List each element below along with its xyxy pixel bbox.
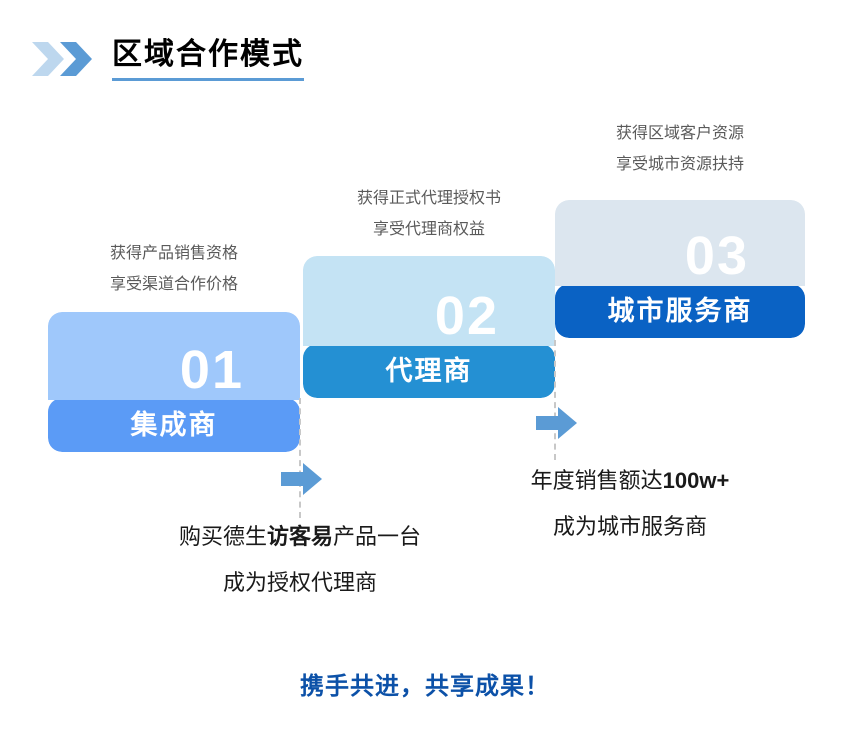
page-title: 区域合作模式 [112,36,304,74]
condition-line-1: 年度销售额达100w+ [410,458,850,504]
tagline: 携手共进，共享成果！ [0,672,850,702]
step-card-body: 03 [555,200,805,286]
chevron-pair [32,40,94,78]
condition-prefix: 年度销售额达 [531,468,663,493]
condition-line-2: 成为城市服务商 [410,504,850,550]
step-caption-line: 获得区域客户资源 [555,118,805,149]
step-card-02[interactable]: 02 代理商 [303,256,555,398]
step-number: 03 [685,228,749,284]
arrow-right-icon [281,462,323,496]
condition-highlight: 访客易 [267,524,333,549]
step-card-footer: 集成商 [48,398,300,452]
step-caption-line: 享受渠道合作价格 [48,269,300,300]
section-header: 区域合作模式 [32,36,304,81]
step-caption-line: 享受代理商权益 [303,214,555,245]
condition-block-2: 年度销售额达100w+ 成为城市服务商 [410,458,850,550]
step-card-body: 02 [303,256,555,346]
step-card-01[interactable]: 01 集成商 [48,312,300,452]
step-card-footer: 代理商 [303,344,555,398]
condition-prefix: 购买德生 [179,524,267,549]
chevron-right-icon [60,40,94,78]
step-caption-03: 获得区域客户资源 享受城市资源扶持 [555,118,805,180]
infographic-canvas: 区域合作模式 获得产品销售资格 享受渠道合作价格 获得正式代理授权书 享受代理商… [0,0,850,737]
step-number: 02 [435,288,499,344]
condition-line-2: 成为授权代理商 [80,560,520,606]
step-caption-01: 获得产品销售资格 享受渠道合作价格 [48,238,300,300]
step-caption-line: 获得正式代理授权书 [303,183,555,214]
dashed-connector-1 [299,398,301,518]
condition-highlight: 100w+ [663,468,730,493]
arrow-right-icon [536,406,578,440]
page-title-underline: 区域合作模式 [112,36,304,81]
dashed-connector-2 [554,340,556,460]
step-number: 01 [180,342,244,398]
step-name: 集成商 [131,410,218,440]
condition-suffix: 产品一台 [333,524,421,549]
step-card-body: 01 [48,312,300,400]
step-name: 城市服务商 [608,296,753,326]
step-caption-02: 获得正式代理授权书 享受代理商权益 [303,183,555,245]
step-caption-line: 享受城市资源扶持 [555,149,805,180]
step-card-footer: 城市服务商 [555,284,805,338]
step-name: 代理商 [386,356,473,386]
step-caption-line: 获得产品销售资格 [48,238,300,269]
step-card-03[interactable]: 03 城市服务商 [555,200,805,338]
